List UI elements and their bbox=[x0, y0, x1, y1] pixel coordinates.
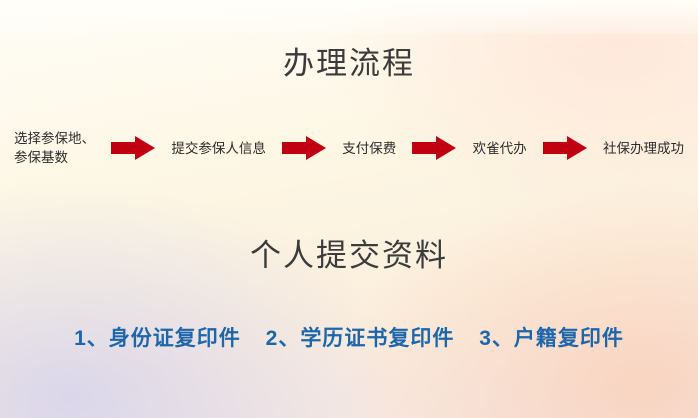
flow-step-2: 提交参保人信息 bbox=[171, 139, 266, 158]
flow-step-4: 欢雀代办 bbox=[473, 139, 527, 158]
flow-step-5: 社保办理成功 bbox=[603, 139, 684, 158]
process-flow: 选择参保地、 参保基数 提交参保人信息 支付保费 欢雀代办 bbox=[0, 118, 698, 178]
document-item-2: 2、学历证书复印件 bbox=[266, 327, 455, 350]
document-item-3: 3、户籍复印件 bbox=[479, 327, 624, 350]
page-title-sub: 个人提交资料 bbox=[0, 230, 698, 275]
flow-step-1-line-1: 选择参保地、 bbox=[14, 129, 95, 148]
flow-step-1: 选择参保地、 参保基数 bbox=[14, 129, 95, 167]
poster-content: 办理流程 选择参保地、 参保基数 提交参保人信息 支付保费 bbox=[0, 0, 698, 418]
poster-canvas: 办理流程 选择参保地、 参保基数 提交参保人信息 支付保费 bbox=[0, 0, 698, 418]
page-title-main: 办理流程 bbox=[0, 38, 698, 83]
flow-step-4-line-1: 欢雀代办 bbox=[473, 139, 527, 158]
flow-step-5-line-1: 社保办理成功 bbox=[603, 139, 684, 158]
right-arrow-icon-2 bbox=[282, 135, 326, 161]
flow-step-3: 支付保费 bbox=[342, 139, 396, 158]
flow-step-3-line-1: 支付保费 bbox=[342, 139, 396, 158]
flow-step-2-line-1: 提交参保人信息 bbox=[171, 139, 266, 158]
flow-step-1-line-2: 参保基数 bbox=[14, 148, 95, 167]
document-item-1: 1、身份证复印件 bbox=[74, 327, 241, 350]
right-arrow-icon-4 bbox=[543, 135, 587, 161]
right-arrow-icon-3 bbox=[412, 135, 456, 161]
right-arrow-icon-1 bbox=[111, 135, 155, 161]
document-requirement-list: 1、身份证复印件 2、学历证书复印件 3、户籍复印件 bbox=[0, 322, 698, 352]
